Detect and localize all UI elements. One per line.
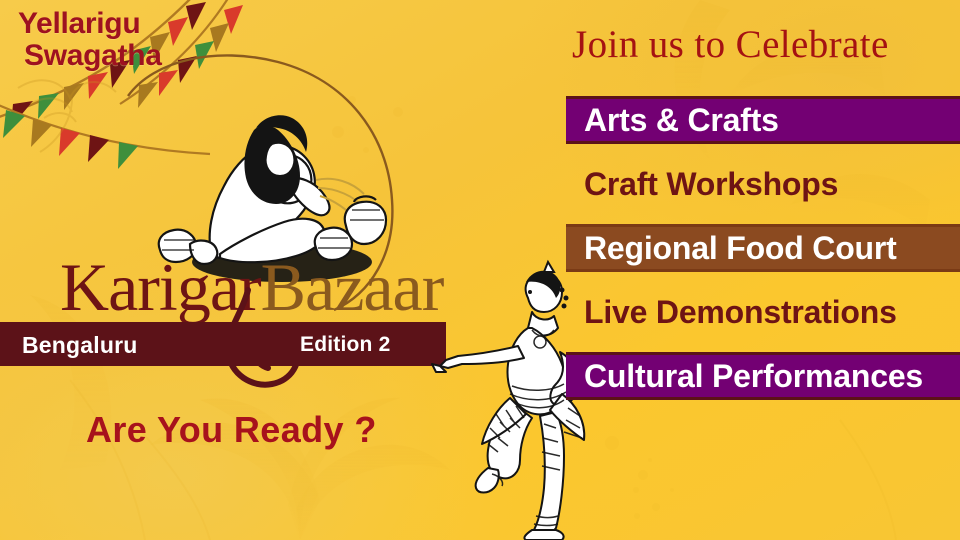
location-edition-ribbon: Bengaluru Edition 2 [0, 322, 446, 366]
greeting-line-2: Swagatha [18, 40, 238, 72]
ribbon-city-label: Bengaluru [22, 332, 138, 359]
feature-label: Live Demonstrations [566, 294, 897, 331]
feature-list: Arts & Crafts Craft Workshops Regional F… [566, 96, 960, 416]
brand-word-bazaar: Bazaar [261, 249, 444, 325]
feature-item-live-demonstrations: Live Demonstrations [566, 288, 960, 336]
bunting-flag-group-lower [3, 110, 138, 169]
greeting-line-1: Yellarigu [18, 8, 238, 40]
feature-item-craft-workshops: Craft Workshops [566, 160, 960, 208]
feature-label: Cultural Performances [566, 358, 923, 395]
feature-label: Arts & Crafts [566, 102, 779, 139]
ribbon-edition-label: Edition 2 [300, 333, 390, 357]
celebrate-heading: Join us to Celebrate [572, 22, 889, 67]
feature-label: Regional Food Court [566, 230, 897, 267]
dancer-standing-leg [534, 412, 564, 533]
brand-word-karigar: Karigar [60, 249, 261, 325]
call-to-action-text: Are You Ready ? [86, 409, 377, 451]
feature-label: Craft Workshops [566, 166, 838, 203]
event-poster: Yellarigu Swagatha KarigarBazaar Bengalu… [0, 0, 960, 540]
greeting-headline: Yellarigu Swagatha [18, 8, 238, 73]
feature-item-regional-food-court: Regional Food Court [566, 224, 960, 272]
dancer-standing-foot [524, 530, 563, 540]
feature-item-arts-crafts: Arts & Crafts [566, 96, 960, 144]
dancer-raised-foot [476, 468, 499, 493]
feature-item-cultural-performances: Cultural Performances [566, 352, 960, 400]
